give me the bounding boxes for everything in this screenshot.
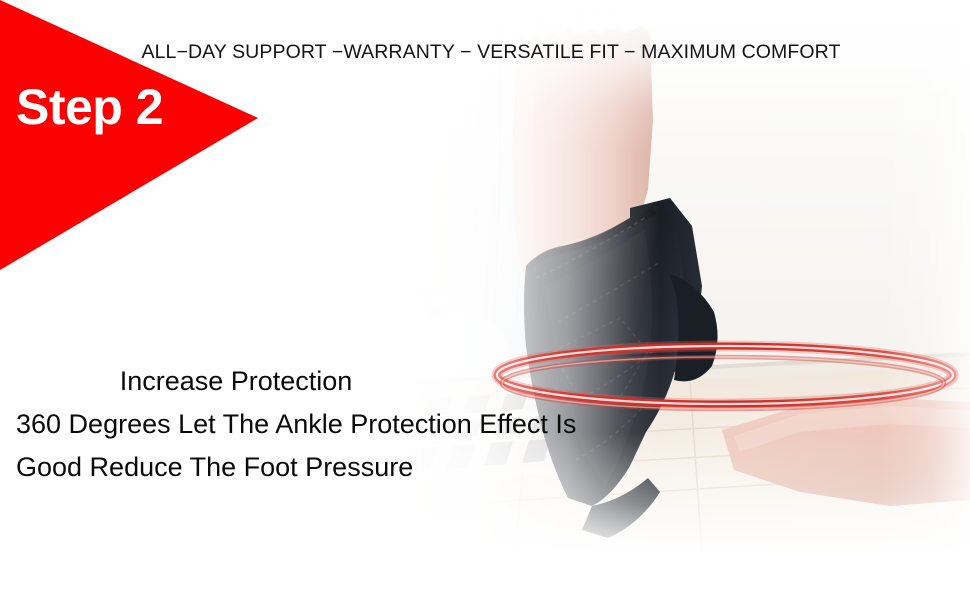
body-line-2: 360 Degrees Let The Ankle Protection Eff… — [16, 403, 636, 446]
headline-text: ALL−DAY SUPPORT −WARRANTY − VERSATILE FI… — [0, 41, 970, 64]
body-copy: Increase Protection 360 Degrees Let The … — [16, 360, 636, 489]
body-line-3: Good Reduce The Foot Pressure — [16, 446, 636, 489]
body-line-1: Increase Protection — [16, 360, 636, 403]
step-badge-label: Step 2 — [16, 82, 163, 132]
product-banner: Step 2 ALL−DAY SUPPORT −WARRANTY − VERSA… — [0, 0, 970, 600]
